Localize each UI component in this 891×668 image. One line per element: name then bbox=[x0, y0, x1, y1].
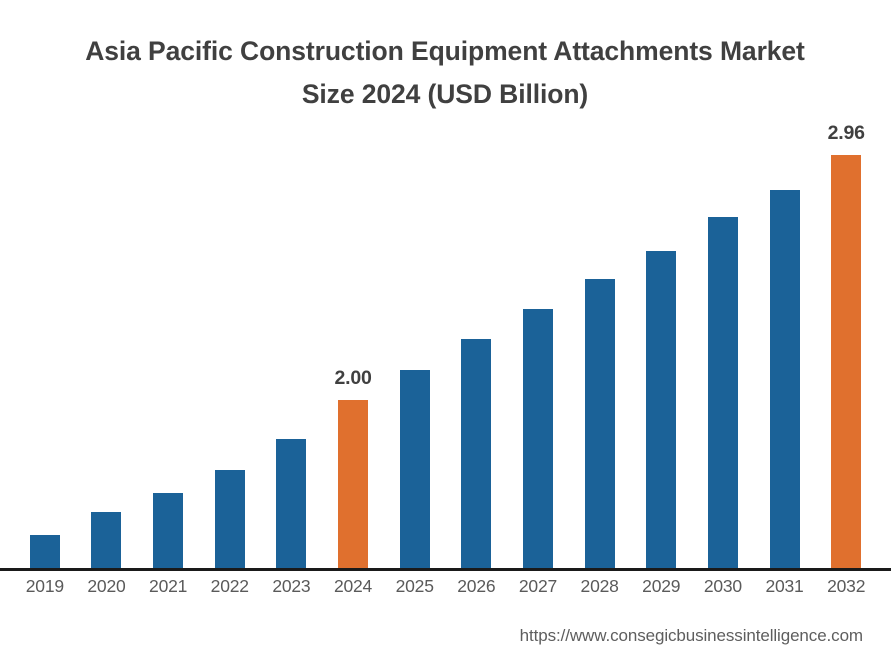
chart-title-line-1: Asia Pacific Construction Equipment Atta… bbox=[45, 30, 845, 73]
bar-group bbox=[215, 130, 245, 570]
bar-2032[interactable] bbox=[831, 155, 861, 570]
bar-2022[interactable] bbox=[215, 470, 245, 570]
bar-value-label-2024: 2.00 bbox=[334, 367, 371, 390]
bar-chart-figure: Asia Pacific Construction Equipment Atta… bbox=[0, 0, 891, 668]
bar-2020[interactable] bbox=[91, 512, 121, 570]
x-tick-label-2028: 2028 bbox=[569, 576, 631, 597]
bar-group bbox=[30, 130, 60, 570]
bar-2026[interactable] bbox=[461, 339, 491, 570]
bar-2027[interactable] bbox=[523, 309, 553, 570]
bar-2030[interactable] bbox=[708, 217, 738, 570]
x-tick-label-2027: 2027 bbox=[507, 576, 569, 597]
x-tick-label-2022: 2022 bbox=[199, 576, 261, 597]
bar-2024[interactable] bbox=[338, 400, 368, 570]
bar-group: 2.96 bbox=[831, 130, 861, 570]
x-tick-label-2032: 2032 bbox=[815, 576, 877, 597]
bar-group bbox=[276, 130, 306, 570]
bar-group: 2.00 bbox=[338, 130, 368, 570]
bar-group bbox=[585, 130, 615, 570]
x-tick-label-2029: 2029 bbox=[630, 576, 692, 597]
x-axis-line bbox=[0, 568, 891, 571]
bar-2028[interactable] bbox=[585, 279, 615, 570]
bar-group bbox=[708, 130, 738, 570]
x-axis-tick-labels: 2019202020212022202320242025202620272028… bbox=[14, 576, 877, 606]
bar-group bbox=[400, 130, 430, 570]
bars-layer: 2.002.96 bbox=[14, 130, 877, 570]
bar-group bbox=[646, 130, 676, 570]
bar-2029[interactable] bbox=[646, 251, 676, 570]
x-tick-label-2026: 2026 bbox=[446, 576, 508, 597]
x-tick-label-2030: 2030 bbox=[692, 576, 754, 597]
x-tick-label-2020: 2020 bbox=[76, 576, 138, 597]
x-tick-label-2023: 2023 bbox=[261, 576, 323, 597]
bar-group bbox=[461, 130, 491, 570]
x-tick-label-2019: 2019 bbox=[14, 576, 76, 597]
chart-title-line-2: Size 2024 (USD Billion) bbox=[45, 73, 845, 116]
plot-area: 2.002.96 bbox=[14, 130, 877, 570]
bar-2025[interactable] bbox=[400, 370, 430, 570]
x-tick-label-2025: 2025 bbox=[384, 576, 446, 597]
source-url-text: https://www.consegicbusinessintelligence… bbox=[520, 626, 863, 646]
bar-2031[interactable] bbox=[770, 190, 800, 570]
bar-group bbox=[770, 130, 800, 570]
bar-value-label-2032: 2.96 bbox=[828, 122, 865, 145]
chart-title: Asia Pacific Construction Equipment Atta… bbox=[45, 30, 845, 116]
bar-group bbox=[153, 130, 183, 570]
x-tick-label-2031: 2031 bbox=[754, 576, 816, 597]
bar-group bbox=[91, 130, 121, 570]
bar-group bbox=[523, 130, 553, 570]
bar-2021[interactable] bbox=[153, 493, 183, 570]
bar-2023[interactable] bbox=[276, 439, 306, 570]
x-tick-label-2021: 2021 bbox=[137, 576, 199, 597]
x-tick-label-2024: 2024 bbox=[322, 576, 384, 597]
bar-2019[interactable] bbox=[30, 535, 60, 570]
